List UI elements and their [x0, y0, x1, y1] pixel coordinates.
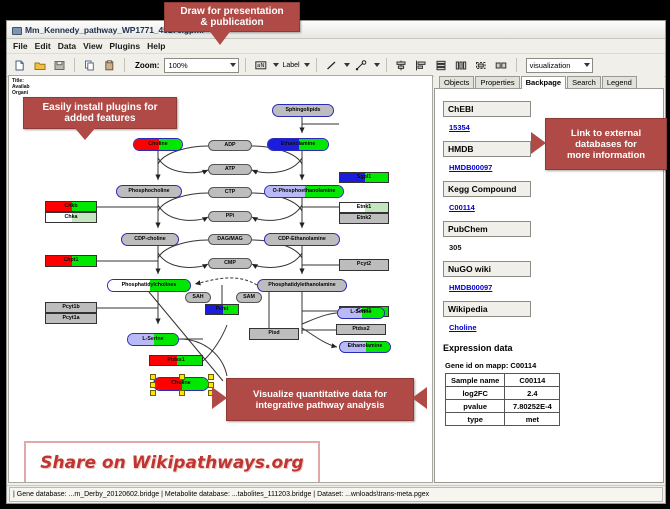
node-label: Ptdss2 — [352, 327, 369, 332]
pathway-gene-node[interactable]: Pemt — [205, 304, 239, 315]
callout-plugins: Easily install plugins for added feature… — [23, 97, 177, 129]
node-label: Pisd — [268, 331, 279, 336]
node-label: Choline — [171, 381, 190, 386]
chevron-down-icon[interactable] — [304, 63, 310, 67]
pathway-gene-node[interactable]: Sgpl1 — [339, 172, 389, 183]
toolbar-separator — [245, 58, 246, 72]
node-label: Ethanolamine — [348, 344, 383, 349]
node-label: Ptdss1 — [167, 358, 184, 363]
pathway-metabolite-node[interactable]: Choline — [133, 138, 183, 151]
node-label: L-Serine — [350, 310, 371, 315]
node-label: SAH — [192, 295, 203, 300]
cell-value: met — [505, 413, 560, 426]
callout-visualize: Visualize quantitative data for integrat… — [226, 378, 414, 421]
pathway-metabolite-node[interactable]: Ethanolamine — [267, 138, 329, 151]
pathway-metabolite-node[interactable]: Phosphatidylethanolamine — [257, 279, 347, 292]
selection-handle[interactable] — [150, 374, 156, 380]
menu-item-data[interactable]: Data — [58, 41, 76, 51]
node-label: Phosphatidylethanolamine — [268, 283, 335, 288]
tab-properties[interactable]: Properties — [475, 76, 519, 88]
tab-legend[interactable]: Legend — [602, 76, 637, 88]
tab-objects[interactable]: Objects — [439, 76, 474, 88]
pathway-cofactor-node[interactable]: PPi — [208, 211, 252, 222]
side-panel-tabs: Objects Properties Backpage Search Legen… — [434, 75, 664, 89]
node-label: Phosphocholine — [128, 189, 169, 194]
node-label: Etnk1 — [357, 205, 371, 210]
link-wikipedia[interactable]: Choline — [449, 323, 477, 332]
section-header-wikipedia: Wikipedia — [443, 301, 531, 317]
pathway-cofactor-node[interactable]: ATP — [208, 164, 252, 175]
pathway-gene-node[interactable]: Chka — [45, 212, 97, 223]
align-left-icon[interactable] — [413, 57, 430, 74]
section-header-pubchem: PubChem — [443, 221, 531, 237]
node-label: Choline — [148, 142, 167, 147]
table-row: log2FC 2.4 — [446, 387, 560, 400]
pathway-cofactor-node[interactable]: SAM — [236, 292, 262, 303]
table-row: Sample name C00114 — [446, 374, 560, 387]
zoom-label: Zoom: — [135, 61, 159, 70]
callout-databases-arrow — [531, 132, 546, 154]
pathway-cofactor-node[interactable]: DAG/MAG — [208, 234, 252, 245]
pathway-gene-node[interactable]: Pcyt2 — [339, 259, 389, 271]
node-label: SAM — [243, 295, 255, 300]
pathway-cofactor-node[interactable]: SAH — [185, 292, 211, 303]
paste-icon[interactable] — [101, 57, 118, 74]
pathway-metabolite-node[interactable]: Choline — [153, 377, 209, 391]
node-label: CTP — [225, 190, 236, 195]
node-label: Pcyt1a — [62, 316, 79, 321]
link-kegg[interactable]: C00114 — [449, 203, 475, 212]
toolbar-separator — [316, 58, 317, 72]
selection-handle[interactable] — [150, 382, 156, 388]
group-icon[interactable] — [473, 57, 490, 74]
menu-item-file[interactable]: File — [13, 41, 28, 51]
toolbar-separator — [516, 58, 517, 72]
node-label: ADP — [224, 143, 235, 148]
cell-value: 2.4 — [505, 387, 560, 400]
screenshot-root: Mm_Kennedy_pathway_WP1771_45176.gpml Fil… — [0, 0, 670, 509]
node-label: Chpt1 — [63, 258, 78, 263]
pathway-metabolite-node[interactable]: Phosphocholine — [116, 185, 182, 198]
expression-data-heading: Expression data — [443, 343, 663, 353]
pathway-metabolite-node[interactable]: CDP-choline — [121, 233, 179, 246]
save-icon[interactable] — [51, 57, 68, 74]
link-hmdb[interactable]: HMDB00097 — [449, 163, 492, 172]
chevron-down-icon[interactable] — [273, 63, 279, 67]
toolbar-separator — [386, 58, 387, 72]
callout-draw: Draw for presentation & publication — [164, 2, 300, 32]
menu-item-view[interactable]: View — [83, 41, 102, 51]
cell-label: type — [446, 413, 505, 426]
copy-icon[interactable] — [81, 57, 98, 74]
pathway-metabolite-node[interactable]: Ethanolamine — [339, 341, 391, 353]
table-row: type met — [446, 413, 560, 426]
align-center-icon[interactable] — [393, 57, 410, 74]
node-label: L-Serine — [142, 337, 163, 342]
node-label: CDP-Ethanolamine — [278, 237, 326, 242]
visualization-select[interactable]: visualization — [526, 58, 593, 73]
pathway-metabolite-node[interactable]: L-Serine — [127, 333, 179, 346]
pathway-gene-node[interactable]: Ptdss1 — [149, 355, 203, 366]
pathway-gene-node[interactable]: Etnk1 — [339, 202, 389, 213]
pathway-metabolite-node[interactable]: Sphingolipids — [272, 104, 334, 117]
anchor-icon[interactable] — [353, 57, 370, 74]
node-label: Chkb — [64, 204, 77, 209]
pathway-cofactor-node[interactable]: CMP — [208, 258, 252, 269]
menu-item-plugins[interactable]: Plugins — [109, 41, 140, 51]
node-label: Ethanolamine — [281, 142, 316, 147]
callout-visualize-text: Visualize quantitative data for integrat… — [253, 389, 387, 411]
cell-label: log2FC — [446, 387, 505, 400]
node-label: ATP — [225, 167, 235, 172]
pathway-gene-node[interactable]: Chpt1 — [45, 255, 97, 267]
node-label: Chka — [65, 215, 78, 220]
node-label: O-Phosphoethanolamine — [273, 189, 336, 194]
callout-plugins-arrow — [73, 126, 97, 140]
pathway-gene-node[interactable]: Pisd — [249, 328, 299, 340]
node-label: CDP-choline — [134, 237, 166, 242]
section-header-hmdb: HMDB — [443, 141, 531, 157]
app-icon — [11, 25, 21, 35]
label-dropdown-label: Label — [282, 62, 299, 69]
toolbar-separator — [124, 58, 125, 72]
table-row: pvalue 7.80252E-4 — [446, 400, 560, 413]
tab-search[interactable]: Search — [567, 76, 601, 88]
node-label: CMP — [224, 261, 236, 266]
share-banner-text: Share on Wikipathways.org — [40, 453, 303, 473]
section-header-nugo: NuGO wiki — [443, 261, 531, 277]
node-label: Sgpl1 — [357, 175, 371, 180]
pathvisio-window: Mm_Kennedy_pathway_WP1771_45176.gpml Fil… — [6, 20, 666, 504]
callout-visualize-arrow-left — [212, 387, 227, 409]
cell-value: C00114 — [505, 374, 560, 387]
callout-draw-arrow — [208, 29, 232, 45]
pathway-gene-node[interactable]: Etnk2 — [339, 213, 389, 224]
new-file-icon[interactable] — [11, 57, 28, 74]
callout-plugins-text: Easily install plugins for added feature… — [42, 102, 157, 124]
node-label: Etnk2 — [357, 216, 371, 221]
section-header-kegg: Kegg Compound — [443, 181, 531, 197]
distribute-icon[interactable] — [453, 57, 470, 74]
pathway-canvas[interactable]: Title: Availab Organi — [8, 75, 433, 483]
chevron-down-icon — [584, 63, 590, 67]
chevron-down-icon[interactable] — [374, 63, 380, 67]
status-bar-text: | Gene database: ...m_Derby_20120602.bri… — [9, 487, 663, 502]
callout-databases-text: Link to external databases for more info… — [567, 128, 645, 161]
cell-label: Sample name — [446, 374, 505, 387]
expression-table: Sample name C00114 log2FC 2.4 pvalue 7.8… — [445, 373, 560, 426]
share-banner: Share on Wikipathways.org — [24, 441, 320, 483]
cell-label: pvalue — [446, 400, 505, 413]
pathway-cofactor-node[interactable]: ADP — [208, 140, 252, 151]
visualization-value: visualization — [530, 61, 571, 70]
toolbar-separator — [74, 58, 75, 72]
menu-item-edit[interactable]: Edit — [35, 41, 51, 51]
line-icon[interactable] — [323, 57, 340, 74]
pathway-metabolite-node[interactable]: O-Phosphoethanolamine — [264, 185, 344, 198]
node-label: Sphingolipids — [285, 108, 320, 113]
pathway-gene-node[interactable]: Pcyt1a — [45, 313, 97, 324]
cell-value: 7.80252E-4 — [505, 400, 560, 413]
pathway-metabolite-node[interactable]: Phosphatidylcholines — [107, 279, 191, 292]
selection-handle[interactable] — [179, 390, 185, 396]
tab-backpage[interactable]: Backpage — [521, 76, 566, 89]
zoom-value: 100% — [168, 61, 187, 70]
chevron-down-icon[interactable] — [344, 63, 350, 67]
datanode-icon[interactable]: aN — [252, 57, 269, 74]
title-bar: Mm_Kennedy_pathway_WP1771_45176.gpml — [7, 21, 665, 39]
callout-databases: Link to external databases for more info… — [545, 118, 667, 170]
pathway-metabolite-node[interactable]: L-Serine — [337, 307, 385, 319]
ungroup-icon[interactable] — [493, 57, 510, 74]
link-chebi[interactable]: 15354 — [449, 123, 470, 132]
svg-text:aN: aN — [257, 63, 265, 69]
node-label: DAG/MAG — [217, 237, 243, 242]
callout-visualize-arrow-right — [412, 387, 427, 409]
status-bar: | Gene database: ...m_Derby_20120602.bri… — [7, 485, 665, 503]
node-label: Pcyt2 — [357, 262, 371, 267]
node-label: Phosphatidylcholines — [122, 283, 177, 288]
selection-handle[interactable] — [208, 374, 214, 380]
node-label: PPi — [226, 214, 235, 219]
chevron-down-icon — [230, 63, 236, 67]
selection-handle[interactable] — [150, 390, 156, 396]
stack-icon[interactable] — [433, 57, 450, 74]
node-label: Pemt — [216, 307, 229, 312]
link-nugo[interactable]: HMDB00097 — [449, 283, 492, 292]
menu-item-help[interactable]: Help — [147, 41, 165, 51]
pathway-cofactor-node[interactable]: CTP — [208, 187, 252, 198]
pathway-gene-node[interactable]: Ptdss2 — [336, 324, 386, 335]
open-folder-icon[interactable] — [31, 57, 48, 74]
menu-bar: File Edit Data View Plugins Help — [7, 39, 665, 54]
node-label: Pcyt1b — [62, 305, 79, 310]
pathway-gene-node[interactable]: Pcyt1b — [45, 302, 97, 313]
pathway-metabolite-node[interactable]: CDP-Ethanolamine — [264, 233, 340, 246]
pathway-gene-node[interactable]: Chkb — [45, 201, 97, 212]
value-pubchem: 305 — [449, 243, 462, 252]
callout-draw-text: Draw for presentation & publication — [180, 6, 283, 28]
zoom-select[interactable]: 100% — [164, 58, 239, 73]
gene-id-line: Gene id on mapp: C00114 — [445, 361, 663, 370]
section-header-chebi: ChEBI — [443, 101, 531, 117]
